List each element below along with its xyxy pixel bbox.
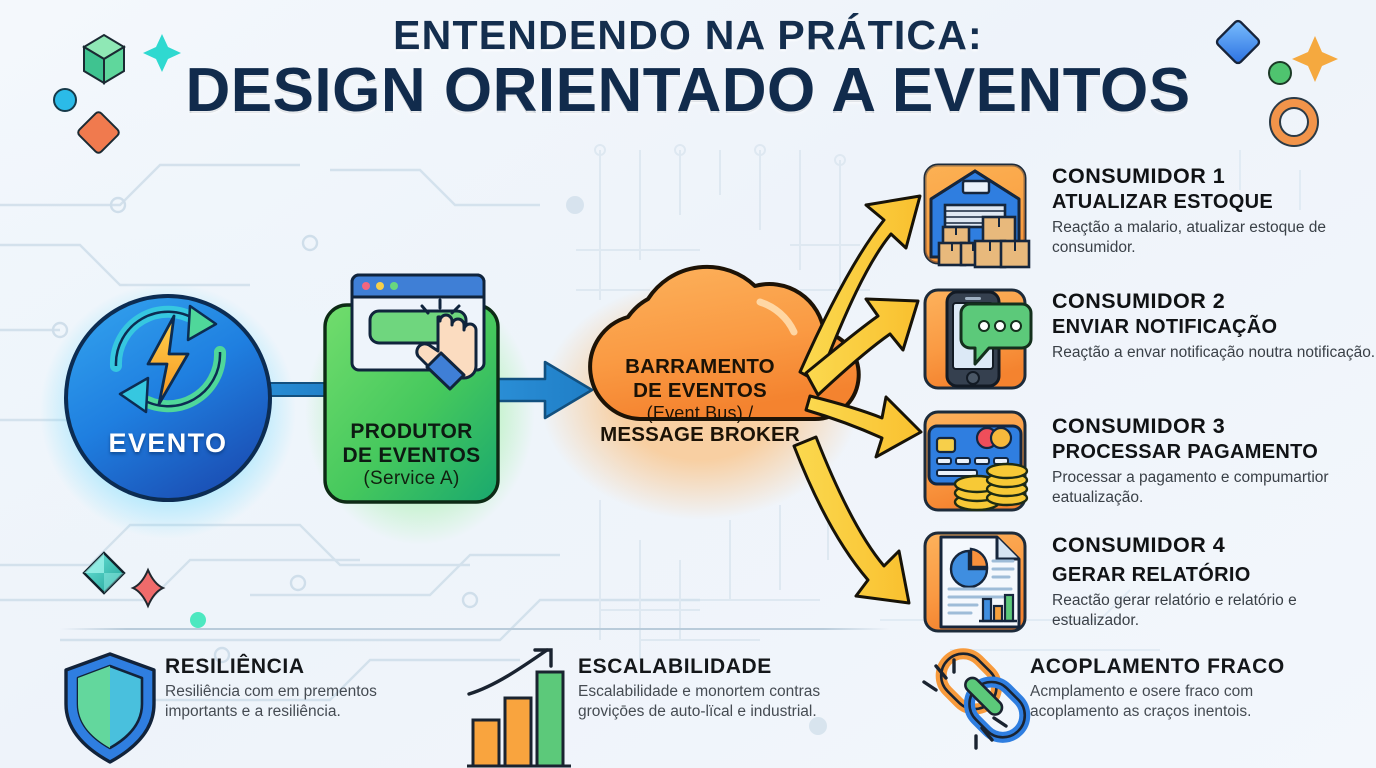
feature-3-title: ACOPLAMENTO FRACO — [1030, 655, 1330, 679]
infographic-canvas: ENTENDENDO NA PRÁTICA: DESIGN ORIENTADO … — [0, 0, 1376, 768]
arrow-to-consumer-4 — [794, 437, 909, 603]
consumer-1-subtitle: ATUALIZAR ESTOQUE — [1052, 191, 1376, 213]
feature-1-title: RESILIÊNCIA — [165, 655, 430, 679]
consumer-1-description: Reaçtão a malario, atualizar estoque de … — [1052, 218, 1376, 258]
growth-bar-chart-icon — [467, 650, 571, 766]
consumer-item-1[interactable]: CONSUMIDOR 1 ATUALIZAR ESTOQUE Reaçtão a… — [1052, 164, 1376, 258]
feature-2-description: Escalabilidade e monortem contras groviç… — [578, 682, 868, 722]
consumer-4-title: CONSUMIDOR 4 — [1052, 533, 1376, 557]
feature-item-escalabilidade[interactable]: ESCALABILIDADE Escalabilidade e monortem… — [578, 655, 868, 722]
consumer-3-subtitle: PROCESSAR PAGAMENTO — [1052, 441, 1376, 463]
broken-chain-link-icon — [924, 645, 1034, 748]
phone-message-icon — [925, 290, 1031, 388]
consumer-4-subtitle: GERAR RELATÓRIO — [1052, 564, 1376, 586]
shield-icon — [66, 654, 154, 762]
consumer-3-title: CONSUMIDOR 3 — [1052, 414, 1376, 438]
consumer-1-title: CONSUMIDOR 1 — [1052, 164, 1376, 188]
feature-item-resiliencia[interactable]: RESILIÊNCIA Resiliência com em prementos… — [165, 655, 430, 722]
consumer-2-description: Reaçtão a envar notificação noutra notif… — [1052, 343, 1376, 363]
warehouse-boxes-icon — [925, 165, 1029, 267]
consumer-item-3[interactable]: CONSUMIDOR 3 PROCESSAR PAGAMENTO Process… — [1052, 414, 1376, 508]
feature-3-description: Acmplamento e osere fraco com acoplament… — [1030, 682, 1330, 722]
feature-item-acoplamento[interactable]: ACOPLAMENTO FRACO Acmplamento e osere fr… — [1030, 655, 1330, 722]
consumer-4-description: Reactão gerar relatório e relatório e es… — [1052, 591, 1376, 631]
credit-card-coins-icon — [925, 412, 1027, 510]
feature-2-title: ESCALABILIDADE — [578, 655, 868, 679]
report-document-icon — [925, 533, 1025, 631]
consumer-2-subtitle: ENVIAR NOTIFICAÇÃO — [1052, 316, 1376, 338]
feature-1-description: Resiliência com em prementos importants … — [165, 682, 430, 722]
section-divider — [60, 628, 890, 630]
consumer-item-4[interactable]: CONSUMIDOR 4 GERAR RELATÓRIO Reactão ger… — [1052, 533, 1376, 631]
consumer-2-title: CONSUMIDOR 2 — [1052, 289, 1376, 313]
flow-diagram — [0, 0, 1376, 768]
consumer-item-2[interactable]: CONSUMIDOR 2 ENVIAR NOTIFICAÇÃO Reaçtão … — [1052, 289, 1376, 363]
consumer-3-description: Processar a pagamento e compumartior eat… — [1052, 468, 1376, 508]
